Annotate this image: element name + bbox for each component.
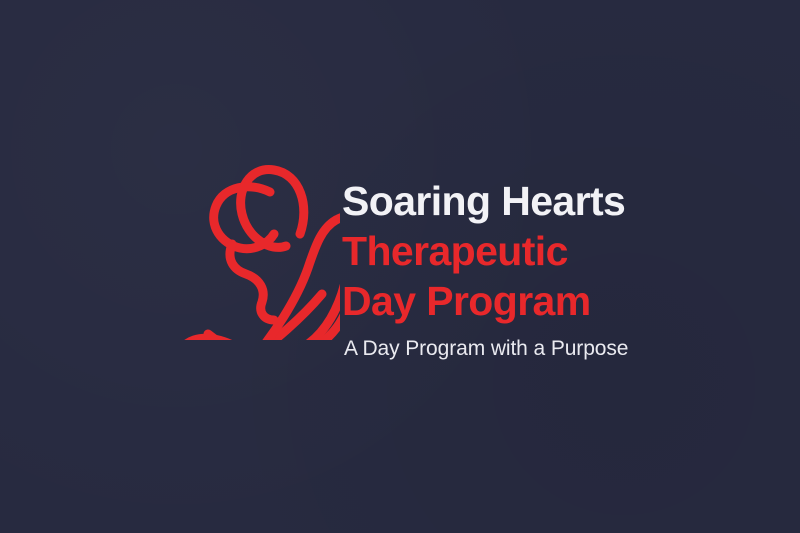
- tagline: A Day Program with a Purpose: [344, 334, 660, 364]
- logo-lockup: Soaring Hearts Therapeutic Day Program A…: [150, 148, 660, 353]
- brand-name-line-1: Soaring Hearts: [342, 176, 660, 226]
- bird-icon: [150, 148, 340, 340]
- wordmark: Soaring Hearts Therapeutic Day Program A…: [342, 176, 660, 364]
- brand-slide-canvas: Soaring Hearts Therapeutic Day Program A…: [0, 0, 800, 533]
- brand-name-line-3: Day Program: [342, 276, 660, 326]
- brand-name-line-2: Therapeutic: [342, 226, 660, 276]
- soaring-bird-line-mark: [150, 148, 340, 340]
